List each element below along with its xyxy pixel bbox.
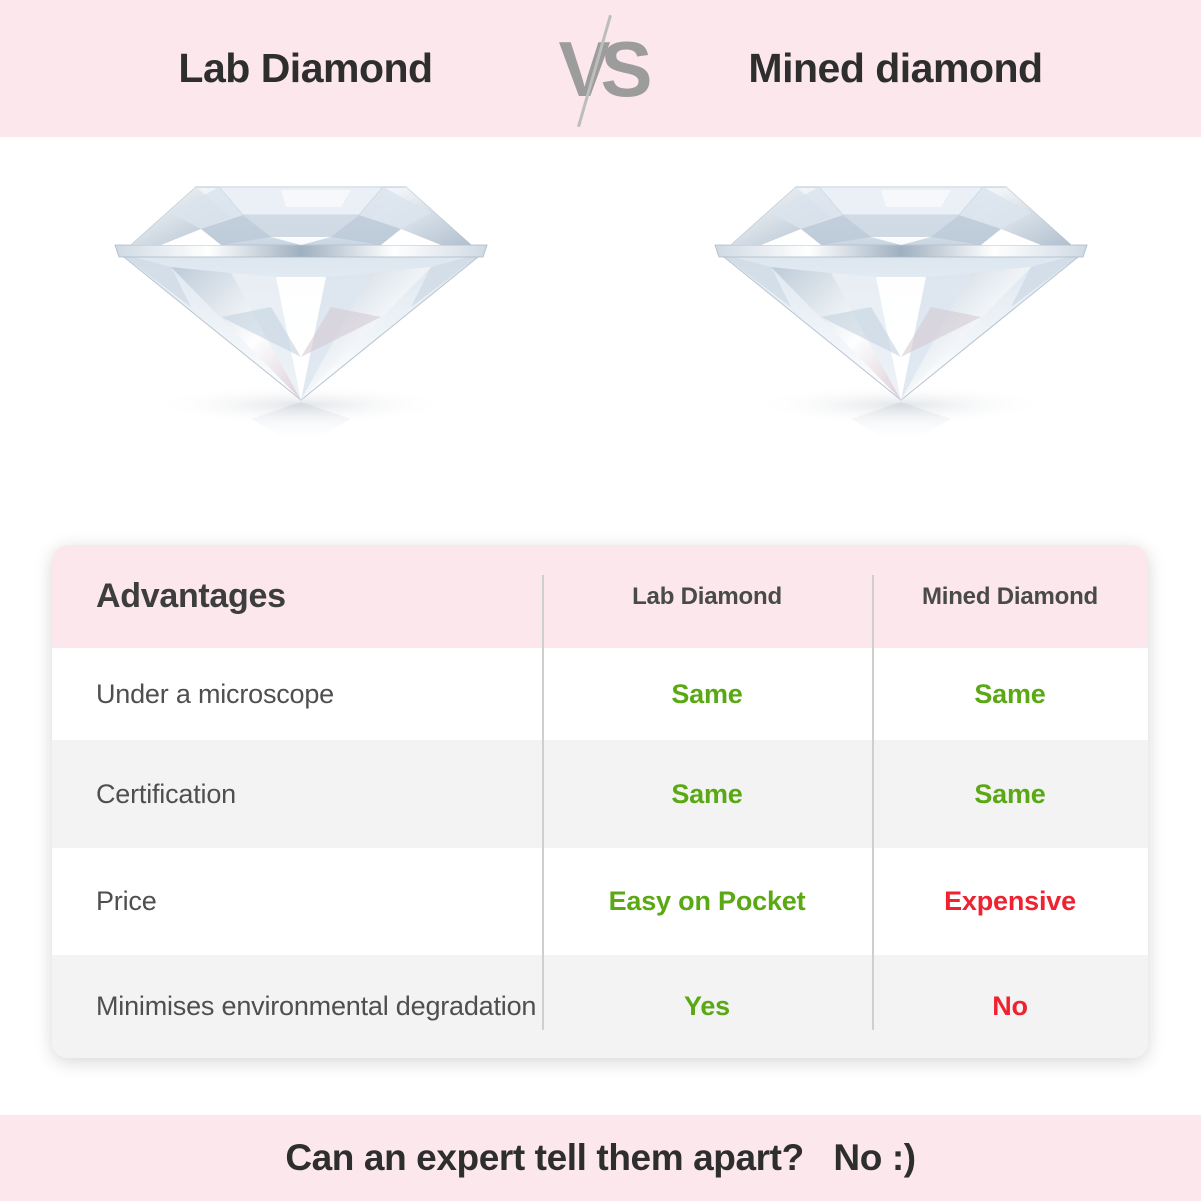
column-header-advantages-label: Advantages <box>96 577 286 615</box>
mined-diamond-title: Mined diamond <box>748 45 1042 91</box>
footer-band: Can an expert tell them apart? No :) <box>0 1115 1201 1201</box>
table-header-row: Advantages Lab Diamond Mined Diamond <box>52 545 1148 648</box>
row-feature-label: Under a microscope <box>96 679 334 709</box>
column-header-lab-label: Lab Diamond <box>632 583 782 610</box>
row-mined-value: No <box>992 991 1028 1021</box>
lab-diamond-icon <box>101 157 501 447</box>
header-band: Lab Diamond VS Mined diamond <box>0 0 1201 137</box>
row-lab-value: Same <box>671 679 742 709</box>
row-mined-value: Expensive <box>944 886 1076 916</box>
table-row: Minimises environmental degradation Yes … <box>52 955 1148 1058</box>
mined-diamond-icon <box>701 157 1101 447</box>
table-row: Certification Same Same <box>52 740 1148 848</box>
table-header-mined: Mined Diamond <box>872 583 1148 611</box>
table-row: Under a microscope Same Same <box>52 648 1148 740</box>
table-header-lab: Lab Diamond <box>542 583 872 611</box>
header-inner: Lab Diamond VS Mined diamond <box>0 0 1201 137</box>
column-divider-1 <box>542 575 544 1030</box>
row-mined-value: Same <box>974 779 1045 809</box>
column-header-mined-label: Mined Diamond <box>922 583 1098 610</box>
header-left-title-wrap: Lab Diamond <box>71 45 541 92</box>
footer-question-text: Can an expert tell them apart? No :) <box>285 1137 915 1179</box>
lab-diamond-title: Lab Diamond <box>178 45 432 91</box>
diamond-image-area <box>0 137 1201 537</box>
row-feature-label: Price <box>96 886 157 916</box>
table-row: Price Easy on Pocket Expensive <box>52 848 1148 955</box>
row-lab-value: Yes <box>684 991 730 1021</box>
column-divider-2 <box>872 575 874 1030</box>
row-lab-value: Easy on Pocket <box>609 886 806 916</box>
lab-diamond-image-cell <box>1 137 601 537</box>
mined-diamond-image-cell <box>601 137 1201 537</box>
row-mined-value: Same <box>974 679 1045 709</box>
comparison-table: Advantages Lab Diamond Mined Diamond Und… <box>52 545 1148 1058</box>
header-right-title-wrap: Mined diamond <box>661 45 1131 92</box>
row-feature-label: Minimises environmental degradation <box>96 991 536 1021</box>
table-header-advantages: Advantages <box>52 577 542 616</box>
row-lab-value: Same <box>671 779 742 809</box>
row-feature-label: Certification <box>96 779 236 809</box>
vs-badge: VS <box>541 9 661 129</box>
